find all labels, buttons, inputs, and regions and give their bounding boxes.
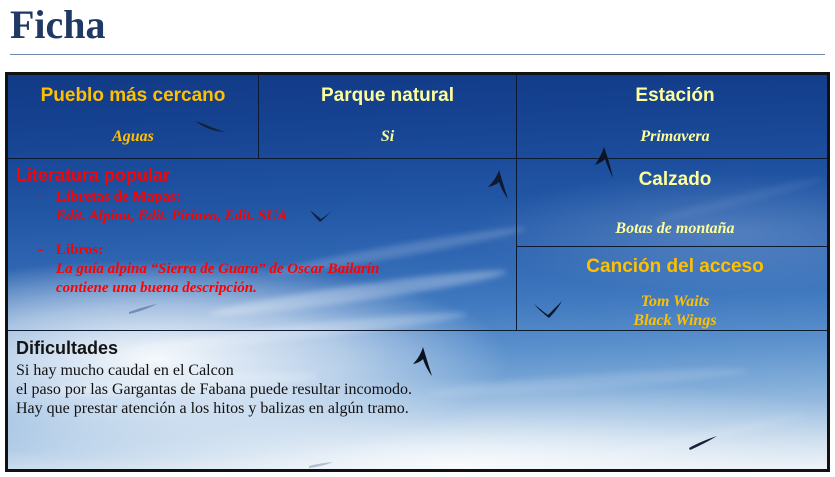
slide-canvas: Ficha <box>0 0 835 477</box>
dificultades-line: Hay que prestar atención a los hitos y b… <box>16 399 830 418</box>
dificultades-line: Si hay mucho caudal en el Calcon <box>16 361 830 380</box>
cell-parque-natural: Parque natural Si <box>259 75 516 158</box>
pueblo-header: Pueblo más cercano <box>8 84 258 107</box>
cell-calzado: Calzado Botas de montaña <box>517 159 830 246</box>
cell-estacion: Estación Primavera <box>517 75 830 158</box>
parque-value: Si <box>259 127 516 146</box>
title-divider <box>10 54 825 55</box>
literatura-item-sub-line1: La guía alpina “Sierra de Guara” de Osca… <box>56 260 516 279</box>
cancion-header: Canción del acceso <box>517 255 830 278</box>
cell-pueblo-mas-cercano: Pueblo más cercano Aguas <box>8 75 258 158</box>
parque-header: Parque natural <box>259 84 516 107</box>
cell-dificultades: Dificultades Si hay mucho caudal en el C… <box>8 331 830 469</box>
page-title: Ficha <box>10 2 825 48</box>
literatura-item-lead: Libretas de Mapas: <box>56 188 516 207</box>
dificultades-title: Dificultades <box>16 337 830 359</box>
info-table: Pueblo más cercano Aguas Parque natural … <box>5 72 830 472</box>
title-block: Ficha <box>10 2 825 58</box>
cell-literatura-popular: Literatura popular - Libretas de Mapas: … <box>8 159 516 330</box>
cell-cancion-del-acceso: Canción del acceso Tom Waits Black Wings <box>517 247 830 330</box>
list-item: - Libretas de Mapas: Edit. Alpina, Edit.… <box>34 188 516 226</box>
estacion-header: Estación <box>517 84 830 107</box>
bullet-dash: - <box>38 241 43 260</box>
cancion-value-line1: Tom Waits <box>517 292 830 311</box>
calzado-value: Botas de montaña <box>517 219 830 238</box>
list-spacer <box>34 226 516 241</box>
pueblo-value: Aguas <box>8 127 258 146</box>
literatura-title: Literatura popular <box>16 165 516 186</box>
calzado-header: Calzado <box>517 168 830 191</box>
literatura-item-sub: Edit. Alpina, Edit. Pirineo, Edit. SUA <box>56 207 516 226</box>
bullet-dash: - <box>38 188 43 207</box>
literatura-list: - Libretas de Mapas: Edit. Alpina, Edit.… <box>34 188 516 298</box>
dificultades-line: el paso por las Gargantas de Fabana pued… <box>16 380 830 399</box>
literatura-item-sub-line2: contiene una buena descripción. <box>56 279 516 298</box>
estacion-value: Primavera <box>517 127 830 146</box>
list-item: - Libros: La guía alpina “Sierra de Guar… <box>34 241 516 298</box>
literatura-item-lead: Libros: <box>56 241 516 260</box>
cancion-value-line2: Black Wings <box>517 311 830 330</box>
